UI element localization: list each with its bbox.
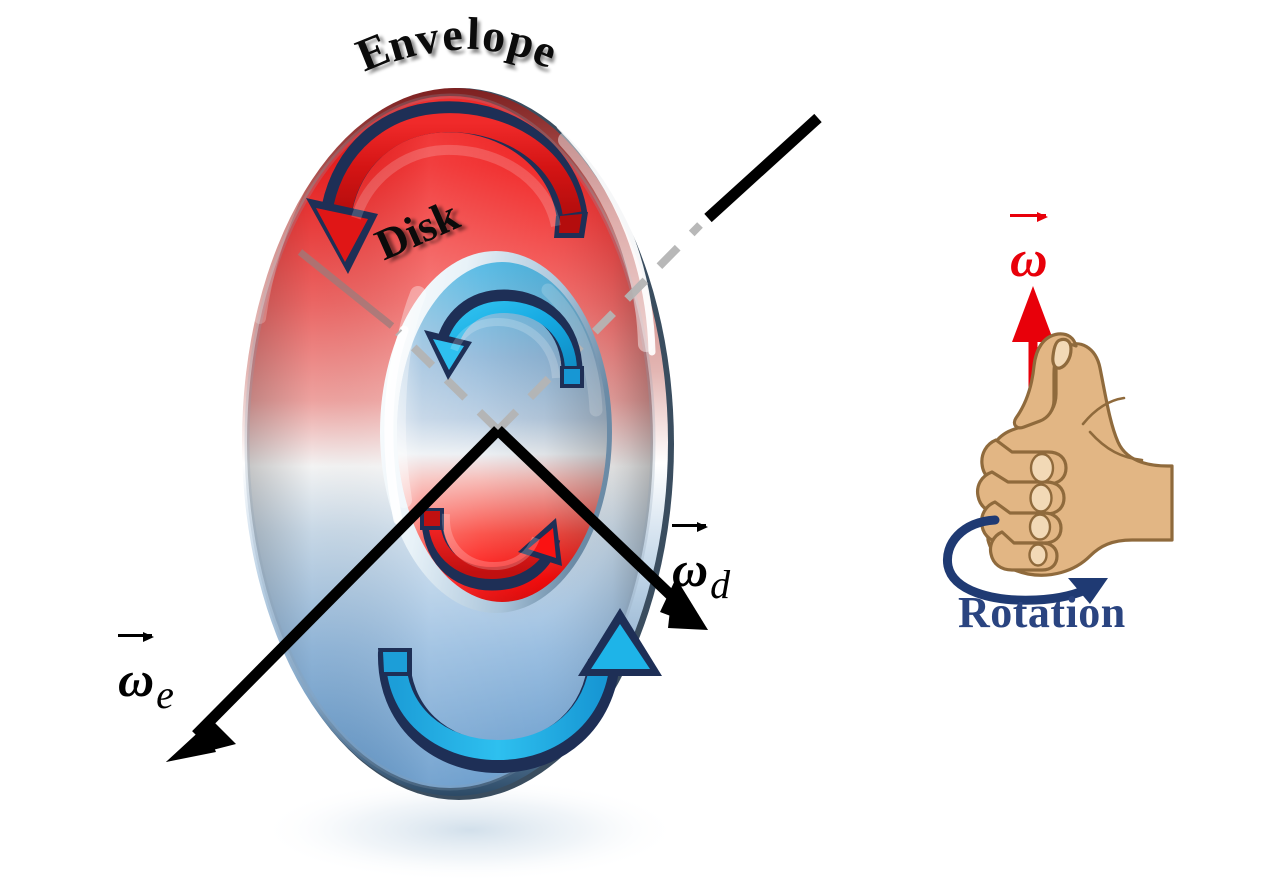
omega-e-label: ω e bbox=[118, 634, 172, 708]
omega-glyph: ω bbox=[118, 654, 154, 704]
envelope-letter: l bbox=[466, 7, 482, 60]
omega-glyph: ω bbox=[1010, 234, 1048, 286]
vector-arrow-overbar bbox=[118, 634, 152, 637]
thumbs-up-hand bbox=[978, 334, 1172, 575]
envelope-label: Envelope bbox=[362, 10, 552, 63]
envelope-axis-upper-segment bbox=[708, 118, 818, 218]
vector-arrow-overbar bbox=[1010, 214, 1046, 217]
hand-nail-1 bbox=[1031, 454, 1053, 482]
omega-e-vector-stack: ω bbox=[118, 634, 154, 708]
omega-glyph: ω bbox=[672, 544, 708, 594]
omega-e-subscript: e bbox=[156, 672, 174, 717]
right-hand-rule-illustration bbox=[947, 286, 1172, 604]
omega-d-subscript: d bbox=[710, 562, 730, 607]
hand-nail-4 bbox=[1030, 545, 1047, 566]
envelope-letter: e bbox=[440, 7, 465, 61]
rotation-label: Rotation bbox=[958, 587, 1126, 638]
diagram-artwork bbox=[0, 0, 1268, 888]
omega-label: ω bbox=[1010, 214, 1048, 288]
omega-d-label: ω d bbox=[672, 524, 728, 598]
omega-d-vector-stack: ω bbox=[672, 524, 708, 598]
hand-nail-3 bbox=[1030, 515, 1050, 540]
vector-arrow-overbar bbox=[672, 524, 706, 527]
omega-vector-stack: ω bbox=[1010, 214, 1048, 288]
hand-nail-2 bbox=[1031, 485, 1052, 512]
diagram-canvas: Envelope Disk ω d ω e ω Rotation bbox=[0, 0, 1268, 888]
